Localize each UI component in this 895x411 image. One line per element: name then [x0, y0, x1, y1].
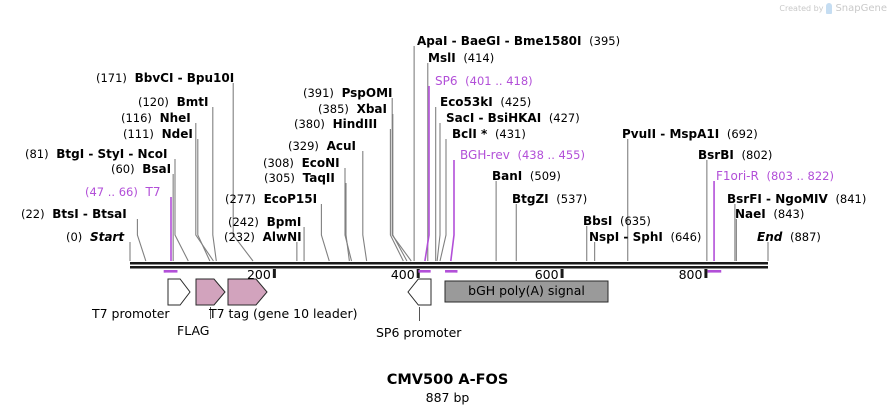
enzyme-position: (120) [138, 95, 169, 109]
enzyme-label-bcli[interactable]: BclI * (431) [452, 128, 526, 141]
enzyme-name: SacI [446, 111, 474, 125]
feature-t7-tag[interactable] [228, 279, 267, 305]
enzyme-position: (509) [530, 169, 561, 183]
enzyme-label-saci-bsihkai[interactable]: SacI - BsiHKAI (427) [446, 112, 580, 125]
enzyme-name: Bpu10I [187, 71, 234, 85]
enzyme-position: (242) [228, 215, 259, 229]
primer-name: T7 [146, 185, 161, 199]
enzyme-label-eco53ki[interactable]: Eco53kI (425) [440, 96, 531, 109]
enzyme-position: (171) [96, 71, 127, 85]
enzyme-name: StyI [98, 147, 125, 161]
enzyme-label-bsai[interactable]: (60) BsaI [111, 163, 171, 176]
enzyme-name: BmtI [177, 95, 209, 109]
enzyme-position: (0) [66, 230, 82, 244]
feature-caption-sp6-promoter: SP6 promoter [376, 325, 461, 340]
primer-range: (803 .. 822) [766, 169, 834, 183]
enzyme-name: BaeGI [461, 34, 501, 48]
enzyme-label-btsi-btsai[interactable]: (22) BtsI - BtsaI [21, 208, 127, 221]
enzyme-label-acui[interactable]: (329) AcuI [288, 140, 356, 153]
enzyme-name: Start [90, 230, 124, 244]
primer-name: BGH-rev [460, 148, 510, 162]
enzyme-name: BsrFI [727, 192, 762, 206]
enzyme-label-btgzi[interactable]: BtgZI (537) [512, 193, 587, 206]
enzyme-label-pspomi[interactable]: (391) PspOMI [303, 87, 393, 100]
enzyme-name: AcuI [327, 139, 356, 153]
enzyme-name: MspA1I [669, 127, 719, 141]
enzyme-position: (380) [294, 117, 325, 131]
enzyme-label-bani[interactable]: BanI (509) [492, 170, 561, 183]
leader-line-pspomi [392, 98, 411, 261]
leader-line-ecop15i [321, 204, 329, 261]
feature-t7-promoter[interactable] [168, 279, 190, 305]
enzyme-name: Eco53kI [440, 95, 493, 109]
primer-name: F1ori-R [716, 169, 759, 183]
enzyme-label-start[interactable]: (0) Start [66, 231, 124, 244]
enzyme-position: (843) [773, 207, 804, 221]
leader-line-bmti [213, 107, 217, 261]
enzyme-name: NcoI [138, 147, 168, 161]
enzyme-position: (111) [123, 127, 154, 141]
enzyme-name: BsrBI [698, 148, 734, 162]
backbone-line-bottom [130, 266, 768, 269]
backbone-line-top [130, 262, 768, 265]
enzyme-label-taqii[interactable]: (305) TaqII [264, 172, 335, 185]
enzyme-label-bpmi[interactable]: (242) BpmI [228, 216, 301, 229]
ruler-label-400: 400 [388, 267, 415, 282]
enzyme-position: (232) [224, 230, 255, 244]
enzyme-name: BsiHKAI [488, 111, 542, 125]
leader-line-bgh-rev-primer [451, 160, 454, 261]
ruler-tick-600 [561, 269, 564, 278]
leader-line-btsi-btsai [137, 219, 145, 261]
enzyme-name: BtgI [56, 147, 84, 161]
enzyme-name: BtgZI [512, 192, 549, 206]
enzyme-name: AlwNI [263, 230, 302, 244]
enzyme-name: BclI * [452, 127, 487, 141]
enzyme-position: (692) [727, 127, 758, 141]
primer-bar-bgh-rev-primer [445, 270, 457, 273]
ruler-label-200: 200 [244, 267, 271, 282]
primer-bar-t7-primer [164, 270, 178, 273]
enzyme-label-btgi-styi-ncoi[interactable]: (81) BtgI - StyI - NcoI [25, 148, 167, 161]
enzyme-position: (308) [263, 156, 294, 170]
enzyme-position: (425) [500, 95, 531, 109]
enzyme-label-xbai[interactable]: (385) XbaI [318, 103, 387, 116]
enzyme-position: (646) [670, 230, 701, 244]
enzyme-position: (277) [225, 192, 256, 206]
enzyme-position: (81) [25, 147, 49, 161]
enzyme-label-ndei[interactable]: (111) NdeI [123, 128, 193, 141]
enzyme-label-t7-primer[interactable]: (47 .. 66) T7 [85, 186, 160, 199]
leader-line-nhei [196, 123, 214, 261]
enzyme-label-msli[interactable]: MslI (414) [428, 52, 494, 65]
enzyme-label-bmti[interactable]: (120) BmtI [138, 96, 208, 109]
leader-line-btgi-styi-ncoi [175, 159, 188, 261]
enzyme-name: EcoNI [302, 156, 340, 170]
enzyme-position: (887) [790, 230, 821, 244]
primer-cap-f1ori-r-primer [708, 270, 710, 273]
primer-bar-sp6-primer [418, 270, 430, 273]
enzyme-label-end[interactable]: End (887) [757, 231, 821, 244]
enzyme-position: (385) [318, 102, 349, 116]
enzyme-name: BsaI [142, 162, 171, 176]
enzyme-name: NheI [160, 111, 191, 125]
enzyme-label-nspi-sphi[interactable]: NspI - SphI (646) [589, 231, 701, 244]
enzyme-label-bbsi[interactable]: BbsI (635) [583, 215, 651, 228]
enzyme-name: TaqII [303, 171, 335, 185]
enzyme-position: (22) [21, 207, 45, 221]
enzyme-position: (116) [121, 111, 152, 125]
leader-line-acui [363, 151, 367, 261]
leader-line-saci-bsihkai [437, 123, 440, 261]
enzyme-position: (60) [111, 162, 135, 176]
enzyme-name: MslI [428, 51, 456, 65]
enzyme-name: BbvCI [135, 71, 174, 85]
enzyme-label-econi[interactable]: (308) EcoNI [263, 157, 340, 170]
enzyme-name: XbaI [357, 102, 387, 116]
enzyme-label-bsrfi-ngomiv[interactable]: BsrFI - NgoMIV (841) [727, 193, 866, 206]
enzyme-position: (414) [463, 51, 494, 65]
enzyme-position: (427) [549, 111, 580, 125]
plasmid-length-label: 887 bp [0, 390, 895, 405]
enzyme-label-f1ori-r-primer[interactable]: F1ori-R (803 .. 822) [716, 170, 834, 183]
ruler-tick-200 [273, 269, 276, 278]
enzyme-position: (305) [264, 171, 295, 185]
enzyme-name: PvuII [622, 127, 656, 141]
enzyme-position: (391) [303, 86, 334, 100]
enzyme-label-nhei[interactable]: (116) NheI [121, 112, 191, 125]
plasmid-title: CMV500 A-FOS [0, 372, 895, 388]
ruler-label-600: 600 [532, 267, 559, 282]
enzyme-position: (329) [288, 139, 319, 153]
enzyme-name: NdeI [162, 127, 193, 141]
enzyme-position: (537) [556, 192, 587, 206]
leader-line-bcli [440, 139, 446, 261]
enzyme-label-naei[interactable]: NaeI (843) [735, 208, 804, 221]
enzyme-label-bgh-rev-primer[interactable]: BGH-rev (438 .. 455) [460, 149, 585, 162]
primer-cap-t7-primer [164, 270, 166, 273]
enzyme-name: NgoMIV [775, 192, 828, 206]
enzyme-label-sp6-primer[interactable]: SP6 (401 .. 418) [435, 75, 533, 88]
enzyme-position: (395) [589, 34, 620, 48]
primer-range: (401 .. 418) [465, 74, 533, 88]
enzyme-name: BtsaI [92, 207, 127, 221]
enzyme-name: End [757, 230, 782, 244]
enzyme-name: PspOMI [342, 86, 393, 100]
enzyme-label-hindiii[interactable]: (380) HindIII [294, 118, 377, 131]
enzyme-label-bbvci-bpu10i[interactable]: (171) BbvCI - Bpu10I [96, 72, 234, 85]
enzyme-name: BbsI [583, 214, 612, 228]
primer-range: (47 .. 66) [85, 185, 138, 199]
feature-caption-bgh-polya: bGH poly(A) signal [445, 283, 608, 298]
feature-caption-t7-tag: T7 tag (gene 10 leader) [209, 306, 357, 321]
feature-caption-flag: FLAG [177, 323, 209, 338]
feature-sp6-promoter[interactable] [408, 279, 431, 305]
enzyme-name: NaeI [735, 207, 766, 221]
enzyme-position: (431) [495, 127, 526, 141]
primer-cap-bgh-rev-primer [456, 270, 458, 273]
ruler-label-800: 800 [675, 267, 702, 282]
feature-flag[interactable] [196, 279, 225, 305]
enzyme-position: (635) [620, 214, 651, 228]
primer-cap-sp6-primer [418, 270, 420, 273]
leader-line-ndei [198, 139, 210, 261]
enzyme-name: BpmI [267, 215, 302, 229]
ruler-tick-800 [704, 269, 707, 278]
enzyme-name: Bme1580I [514, 34, 582, 48]
enzyme-label-bsrbi[interactable]: BsrBI (802) [698, 149, 772, 162]
enzyme-name: ApaI [417, 34, 447, 48]
enzyme-label-alwni[interactable]: (232) AlwNI [224, 231, 302, 244]
enzyme-name: EcoP15I [264, 192, 318, 206]
enzyme-position: (841) [835, 192, 866, 206]
enzyme-name: BanI [492, 169, 522, 183]
primer-bar-f1ori-r-primer [708, 270, 722, 273]
enzyme-name: HindIII [333, 117, 378, 131]
enzyme-name: NspI [589, 230, 619, 244]
enzyme-label-apai-baegi-bme1580i[interactable]: ApaI - BaeGI - Bme1580I (395) [417, 35, 620, 48]
primer-range: (438 .. 455) [517, 148, 585, 162]
enzyme-label-pvuii-mspa1i[interactable]: PvuII - MspA1I (692) [622, 128, 758, 141]
feature-caption-t7-promoter: T7 promoter [92, 306, 170, 321]
enzyme-name: BtsI [52, 207, 79, 221]
enzyme-name: SphI [633, 230, 663, 244]
primer-name: SP6 [435, 74, 458, 88]
enzyme-position: (802) [741, 148, 772, 162]
leader-line-sp6-primer [425, 86, 429, 261]
enzyme-label-ecop15i[interactable]: (277) EcoP15I [225, 193, 317, 206]
